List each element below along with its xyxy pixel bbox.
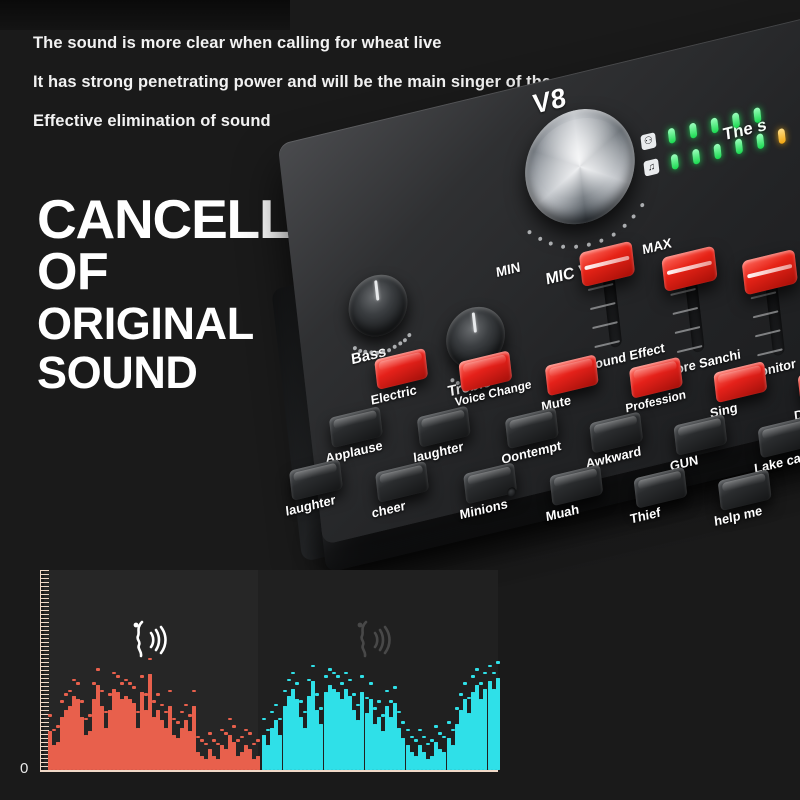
spectrum-peak-dot bbox=[124, 679, 128, 682]
treble-knob-pointer bbox=[471, 312, 476, 333]
spectrum-peak-dot bbox=[228, 718, 232, 721]
spectrum-peak-dot bbox=[295, 682, 299, 685]
spectrum-peak-dot bbox=[172, 718, 176, 721]
chart-bars bbox=[18, 570, 498, 770]
spectrum-peak-dot bbox=[315, 693, 319, 696]
spectrum-peak-dot bbox=[348, 679, 352, 682]
spectrum-peak-dot bbox=[426, 743, 430, 746]
spectrum-peak-dot bbox=[492, 672, 496, 675]
spectrum-peak-dot bbox=[140, 675, 144, 678]
spectrum-peak-dot bbox=[64, 693, 68, 696]
button-label: Thief bbox=[629, 504, 661, 526]
spectrum-peak-dot bbox=[373, 707, 377, 710]
spectrum-bar bbox=[406, 745, 410, 770]
spectrum-peak-dot bbox=[116, 675, 120, 678]
spectrum-peak-dot bbox=[410, 736, 414, 739]
spectrum-peak-dot bbox=[324, 675, 328, 678]
spectrum-peak-dot bbox=[60, 700, 64, 703]
spectrum-peak-dot bbox=[72, 679, 76, 682]
spectrum-bar bbox=[447, 738, 451, 770]
spectrum-peak-dot bbox=[156, 693, 160, 696]
spectrum-bar bbox=[401, 738, 405, 770]
product-photo-v8-sound-card: V8 The s MIN MAX MIC VOL Bass Treble ⚇♫ … bbox=[245, 115, 800, 615]
spectrum-bar bbox=[360, 692, 364, 770]
spectrum-peak-dot bbox=[200, 739, 204, 742]
spectrum-peak-dot bbox=[148, 658, 152, 661]
spectrum-peak-dot bbox=[160, 704, 164, 707]
spectrum-peak-dot bbox=[463, 682, 467, 685]
spectrum-peak-dot bbox=[236, 739, 240, 742]
spectrum-peak-dot bbox=[311, 665, 315, 668]
spectrum-peak-dot bbox=[406, 729, 410, 732]
spectrum-peak-dot bbox=[96, 668, 100, 671]
spectrum-peak-dot bbox=[120, 682, 124, 685]
spectrum-peak-dot bbox=[212, 739, 216, 742]
spectrum-peak-dot bbox=[385, 690, 389, 693]
spectrum-peak-dot bbox=[414, 739, 418, 742]
spectrum-peak-dot bbox=[340, 682, 344, 685]
spectrum-peak-dot bbox=[128, 682, 132, 685]
spectrum-bar bbox=[492, 689, 496, 770]
spectrum-bar bbox=[483, 689, 487, 770]
fader-cap-stripe bbox=[584, 256, 629, 271]
spectrum-bar bbox=[451, 745, 455, 770]
spectrum-peak-dot bbox=[80, 700, 84, 703]
spectrum-bar bbox=[287, 696, 291, 770]
spectrum-peak-dot bbox=[256, 739, 260, 742]
marketing-image: The sound is more clear when calling for… bbox=[0, 0, 800, 800]
spectrum-peak-dot bbox=[184, 704, 188, 707]
spectrum-bar bbox=[278, 735, 282, 770]
spectrum-peak-dot bbox=[319, 707, 323, 710]
fader-cap-stripe bbox=[747, 264, 792, 279]
spectrum-bar bbox=[324, 692, 328, 770]
spectrum-peak-dot bbox=[471, 675, 475, 678]
spectrum-peak-dot bbox=[270, 711, 274, 714]
spectrum-peak-dot bbox=[483, 672, 487, 675]
spectrum-peak-dot bbox=[451, 729, 455, 732]
spectrum-peak-dot bbox=[397, 711, 401, 714]
spectrum-peak-dot bbox=[132, 686, 136, 689]
spectrum-peak-dot bbox=[262, 718, 266, 721]
chart-baseline bbox=[40, 770, 498, 772]
spectrum-peak-dot bbox=[176, 721, 180, 724]
spectrum-peak-dot bbox=[459, 693, 463, 696]
spectrum-peak-dot bbox=[168, 690, 172, 693]
spectrum-peak-dot bbox=[112, 672, 116, 675]
spectrum-peak-dot bbox=[377, 700, 381, 703]
spectrum-peak-dot bbox=[248, 732, 252, 735]
spectrum-peak-dot bbox=[299, 700, 303, 703]
spectrum-bar bbox=[256, 756, 260, 770]
spectrum-peak-dot bbox=[344, 672, 348, 675]
spectrum-peak-dot bbox=[438, 732, 442, 735]
spectrum-peak-dot bbox=[488, 665, 492, 668]
spectrum-peak-dot bbox=[232, 725, 236, 728]
spectrum-peak-dot bbox=[48, 714, 52, 717]
spectrum-peak-dot bbox=[192, 690, 196, 693]
spectrum-peak-dot bbox=[274, 704, 278, 707]
spectrum-peak-dot bbox=[369, 682, 373, 685]
spectrum-peak-dot bbox=[287, 679, 291, 682]
spectrum-peak-dot bbox=[332, 672, 336, 675]
spectrum-peak-dot bbox=[496, 661, 500, 664]
spectrum-peak-dot bbox=[76, 682, 80, 685]
spectrum-peak-dot bbox=[291, 672, 295, 675]
spectrum-bar bbox=[442, 752, 446, 770]
spectrum-peak-dot bbox=[360, 675, 364, 678]
spectrum-bar bbox=[410, 752, 414, 770]
spectrum-peak-dot bbox=[244, 729, 248, 732]
spectrum-peak-dot bbox=[336, 675, 340, 678]
spectrum-bar bbox=[319, 724, 323, 770]
spectrum-peak-dot bbox=[252, 743, 256, 746]
spectrum-peak-dot bbox=[328, 668, 332, 671]
spectrum-bar bbox=[283, 706, 287, 770]
spectrum-peak-dot bbox=[434, 725, 438, 728]
spectrum-bar bbox=[369, 699, 373, 770]
spectrum-peak-dot bbox=[401, 721, 405, 724]
fader-cap-stripe bbox=[667, 260, 712, 275]
spectrum-peak-dot bbox=[240, 736, 244, 739]
spectrum-peak-dot bbox=[393, 686, 397, 689]
audio-spectrum-chart: 0 bbox=[18, 570, 498, 782]
spectrum-peak-dot bbox=[479, 682, 483, 685]
spectrum-peak-dot bbox=[418, 729, 422, 732]
background-gradient-band bbox=[0, 0, 290, 30]
spectrum-peak-dot bbox=[352, 693, 356, 696]
spectrum-peak-dot bbox=[100, 690, 104, 693]
spectrum-peak-dot bbox=[84, 718, 88, 721]
spectrum-peak-dot bbox=[152, 700, 156, 703]
spectrum-peak-dot bbox=[447, 721, 451, 724]
spectrum-peak-dot bbox=[208, 732, 212, 735]
spectrum-peak-dot bbox=[278, 718, 282, 721]
spectrum-bar bbox=[488, 681, 492, 770]
spectrum-bar bbox=[328, 685, 332, 770]
spectrum-peak-dot bbox=[283, 690, 287, 693]
spectrum-peak-dot bbox=[204, 743, 208, 746]
spectrum-bar bbox=[496, 678, 500, 770]
spectrum-bar bbox=[365, 713, 369, 770]
spectrum-peak-dot bbox=[220, 729, 224, 732]
bass-knob-pointer bbox=[374, 280, 379, 301]
spectrum-peak-dot bbox=[475, 668, 479, 671]
spectrum-peak-dot bbox=[196, 736, 200, 739]
spectrum-peak-dot bbox=[365, 697, 369, 700]
spectrum-peak-dot bbox=[442, 736, 446, 739]
spectrum-peak-dot bbox=[52, 729, 56, 732]
spectrum-peak-dot bbox=[68, 690, 72, 693]
spectrum-peak-dot bbox=[422, 736, 426, 739]
spectrum-peak-dot bbox=[180, 711, 184, 714]
